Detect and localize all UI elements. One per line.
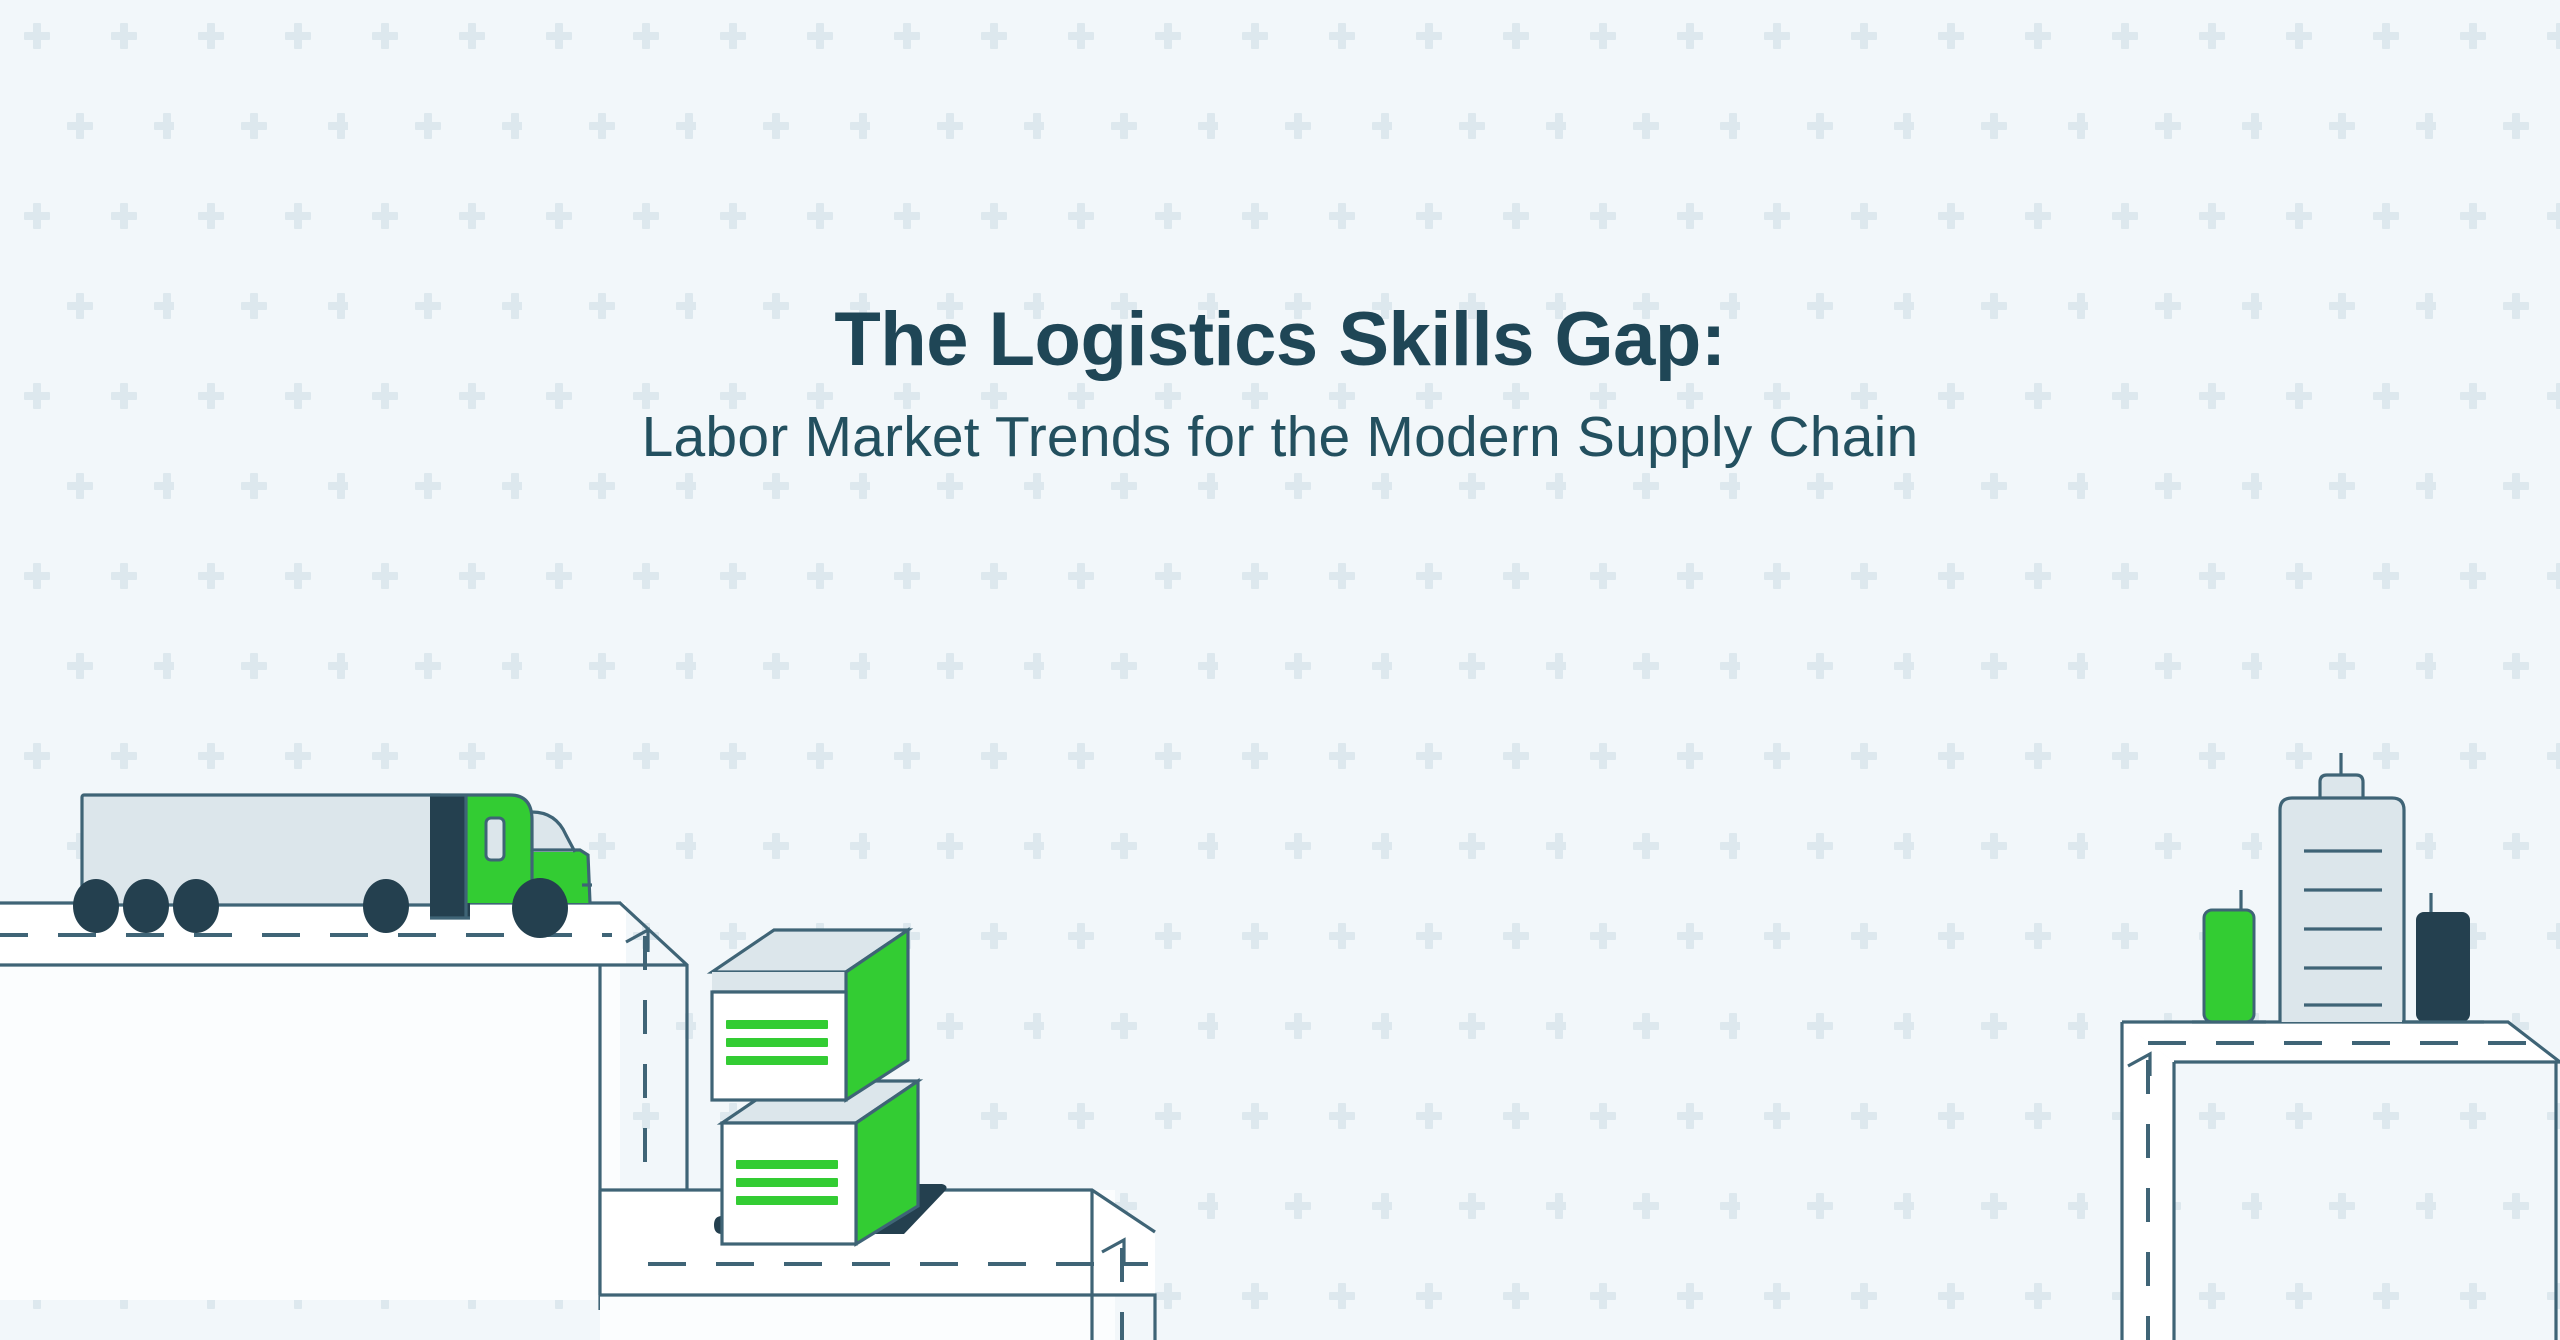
truck-cab-rear-panel bbox=[430, 795, 470, 918]
truck-wheel-rear-2 bbox=[123, 879, 169, 933]
semi-truck bbox=[73, 795, 592, 938]
building-tower-roof-cap-outline bbox=[2320, 775, 2363, 800]
upper-platform-iso-edge bbox=[620, 903, 687, 1310]
hero-text-block: The Logistics Skills Gap: Labor Market T… bbox=[0, 300, 2560, 468]
truck-wheel-mid bbox=[363, 879, 409, 933]
truck-windshield-outline bbox=[532, 812, 575, 852]
upper-platform-face bbox=[0, 903, 620, 1300]
truck-windshield bbox=[532, 812, 575, 852]
building-navy bbox=[2402, 893, 2484, 1022]
lower-box-label-line-1 bbox=[736, 1160, 838, 1169]
background-cross-pattern bbox=[0, 0, 2560, 1340]
upper-road-platform bbox=[0, 903, 687, 1310]
upper-box-label-line-3 bbox=[726, 1056, 828, 1065]
middle-road-platform bbox=[600, 1190, 1155, 1340]
lower-box-side-outline bbox=[856, 1081, 918, 1244]
skyline-road-plane bbox=[2122, 1022, 2560, 1062]
truck-cab-hood bbox=[532, 850, 590, 903]
middle-platform-face bbox=[600, 1190, 1115, 1340]
truck-wheel-front bbox=[512, 878, 568, 938]
building-tower-body bbox=[2280, 798, 2404, 1022]
middle-platform-bottom-edge bbox=[600, 1295, 1155, 1340]
truck-wheel-rear-3 bbox=[173, 879, 219, 933]
lower-box-top bbox=[722, 1081, 918, 1123]
upper-box-band bbox=[712, 972, 846, 992]
cargo-box-lower bbox=[722, 1081, 918, 1244]
upper-box-front bbox=[712, 992, 846, 1100]
lower-box-side bbox=[856, 1081, 918, 1244]
middle-platform-top-edge bbox=[600, 1190, 1155, 1232]
building-green-outline bbox=[2204, 910, 2254, 1022]
city-skyline-platform bbox=[2122, 1022, 2560, 1340]
skyline-left-strip bbox=[2122, 1022, 2174, 1340]
page-subtitle: Labor Market Trends for the Modern Suppl… bbox=[0, 406, 2560, 469]
skyline-platform-top-edge bbox=[2122, 1022, 2560, 1062]
cargo-box-stack bbox=[712, 930, 947, 1244]
supply-chain-illustration: .ln { stroke:#3f6476; stroke-width:3.2; … bbox=[0, 0, 2560, 1340]
truck-wheel-rear-1 bbox=[73, 879, 119, 933]
building-tower-roof-cap bbox=[2320, 775, 2363, 800]
cargo-box-upper bbox=[712, 930, 908, 1100]
upper-road-surface bbox=[0, 903, 626, 965]
truck-door-window bbox=[486, 818, 504, 860]
middle-platform-dash-arrow bbox=[1102, 1240, 1124, 1262]
lower-box-top-outline bbox=[722, 1081, 918, 1123]
middle-road-top-plane bbox=[600, 1190, 1155, 1232]
upper-platform-dash-arrow bbox=[626, 930, 648, 952]
upper-box-top bbox=[712, 930, 908, 972]
pallet-shadow-body bbox=[714, 1184, 947, 1234]
lower-box-label-line-3 bbox=[736, 1196, 838, 1205]
page-title: The Logistics Skills Gap: bbox=[0, 300, 2560, 380]
building-green bbox=[2192, 890, 2266, 1022]
lower-box-front-outline bbox=[722, 1123, 856, 1244]
upper-box-side bbox=[846, 930, 908, 1100]
upper-box-label-line-1 bbox=[726, 1020, 828, 1029]
building-tower bbox=[2280, 753, 2404, 1022]
lower-box-label-line-2 bbox=[736, 1178, 838, 1187]
building-tower-outline bbox=[2280, 798, 2404, 1022]
truck-door-window-outline bbox=[486, 818, 504, 860]
truck-cab-outline bbox=[430, 795, 590, 903]
truck-cab-body bbox=[466, 795, 532, 903]
pallet-shadow bbox=[726, 1186, 940, 1222]
middle-road-surface bbox=[600, 1232, 1155, 1295]
upper-box-front-outline bbox=[712, 992, 846, 1100]
building-navy-body bbox=[2416, 912, 2470, 1022]
skyline-platform-dash-arrow bbox=[2128, 1054, 2150, 1076]
truck-trailer-outline bbox=[82, 795, 442, 905]
building-green-body bbox=[2204, 910, 2254, 1022]
upper-box-top-outline bbox=[712, 930, 908, 972]
truck-trailer-body bbox=[82, 795, 442, 905]
lower-box-front bbox=[722, 1123, 856, 1244]
upper-box-side-outline bbox=[846, 930, 908, 1100]
city-skyline-buildings bbox=[2192, 753, 2484, 1022]
upper-box-label-line-2 bbox=[726, 1038, 828, 1047]
hero-banner: The Logistics Skills Gap: Labor Market T… bbox=[0, 0, 2560, 1340]
